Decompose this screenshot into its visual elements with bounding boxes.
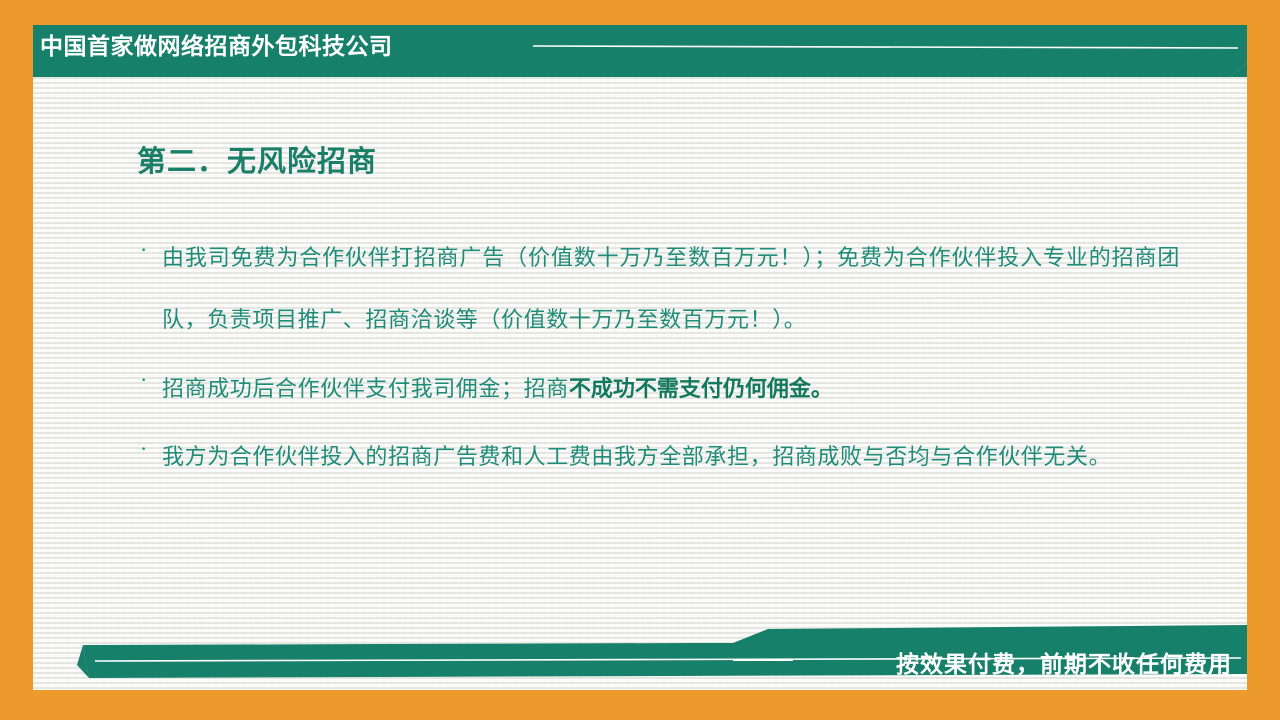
bullet-text-1: 由我司免费为合作伙伴打招商广告（价值数十万乃至数百万元！）；免费为合作伙伴投入专… [162, 228, 1180, 352]
list-item: · 招商成功后合作伙伴支付我司佣金；招商不成功不需支付仍何佣金。 [140, 358, 1180, 421]
header-title: 中国首家做网络招商外包科技公司 [40, 30, 640, 62]
bullet-segment: 由我司免费为合作伙伴打招商广告（价值数十万乃至数百万元！）；免费为合作伙伴投入专… [162, 246, 1180, 333]
page-title: 第二．无风险招商 [137, 138, 377, 180]
list-item: · 我方为合作伙伴投入的招商广告费和人工费由我方全部承担，招商成败与否均与合作伙… [140, 427, 1180, 489]
bullet-text-2: 招商成功后合作伙伴支付我司佣金；招商不成功不需支付仍何佣金。 [162, 358, 1180, 421]
bullet-segment: 招商成功后合作伙伴支付我司佣金；招商 [162, 377, 569, 402]
bullet-list: · 由我司免费为合作伙伴打招商广告（价值数十万乃至数百万元！）；免费为合作伙伴投… [140, 228, 1180, 495]
bullet-marker-icon: · [140, 427, 162, 471]
bullet-segment: 我方为合作伙伴投入的招商广告费和人工费由我方全部承担，招商成败与否均与合作伙伴无… [162, 445, 1111, 470]
bullet-segment-emphasis: 不成功不需支付仍何佣金。 [569, 376, 833, 401]
slide-canvas: 中国首家做网络招商外包科技公司 第二．无风险招商 · 由我司免费为合作伙伴打招商… [0, 0, 1280, 720]
list-item: · 由我司免费为合作伙伴打招商广告（价值数十万乃至数百万元！）；免费为合作伙伴投… [140, 228, 1180, 352]
bullet-marker-icon: · [140, 228, 162, 272]
bullet-marker-icon: · [140, 358, 162, 402]
bullet-text-3: 我方为合作伙伴投入的招商广告费和人工费由我方全部承担，招商成败与否均与合作伙伴无… [162, 427, 1180, 489]
footer-tagline: 按效果付费，前期不收任何费用 [896, 645, 1232, 679]
